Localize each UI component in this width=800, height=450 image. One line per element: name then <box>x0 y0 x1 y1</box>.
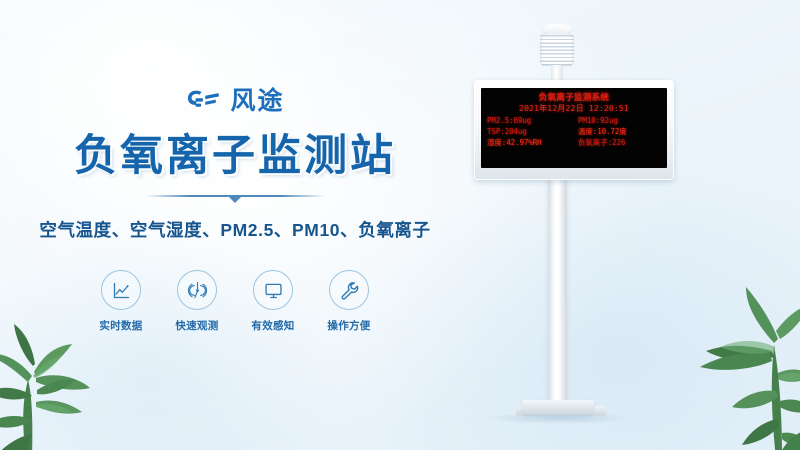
brand-name: 风途 <box>230 89 284 114</box>
led-reading-humidity: 湿度:42.97%RH <box>487 138 574 148</box>
led-reading-row: PM2.5:69ug PM10:92ug <box>487 116 661 126</box>
wrench-icon <box>329 270 369 310</box>
feature-item-realtime-data[interactable]: 实时数据 <box>95 270 147 333</box>
led-title: 负氧离子监测系统 <box>487 93 661 103</box>
weather-sensor-shield-icon <box>534 24 580 86</box>
monitor-screen-icon <box>253 270 293 310</box>
led-reading-negative-ions: 负氧离子:226 <box>574 138 661 148</box>
led-display-bezel: 负氧离子监测系统 2021年12月22日 12:20:51 PM2.5:69ug… <box>474 80 674 180</box>
feature-item-fast-observation[interactable]: 快速观测 <box>171 270 223 333</box>
feature-item-effective-sensing[interactable]: 有效感知 <box>247 270 299 333</box>
fengtu-logo-icon <box>185 88 221 114</box>
page-title: 负氧离子监测站 <box>74 134 396 179</box>
led-reading-pm25: PM2.5:69ug <box>487 116 574 126</box>
promo-banner: 风途 负氧离子监测站 空气温度、空气湿度、PM2.5、PM10、负氧离子 实时数… <box>0 0 800 450</box>
led-reading-pm10: PM10:92ug <box>574 116 661 126</box>
led-display-panel: 负氧离子监测系统 2021年12月22日 12:20:51 PM2.5:69ug… <box>481 88 667 168</box>
brand-logo: 风途 <box>185 84 284 118</box>
led-datetime: 2021年12月22日 12:20:51 <box>487 104 661 114</box>
feature-label: 快速观测 <box>175 318 218 333</box>
monitoring-station: 负氧离子监测系统 2021年12月22日 12:20:51 PM2.5:69ug… <box>470 0 800 450</box>
led-reading-tsp: TSP:204ug <box>487 127 574 137</box>
title-divider <box>145 194 325 204</box>
feature-label: 操作方便 <box>327 318 370 333</box>
divider-arrow-icon <box>228 196 242 203</box>
pole-base-plate <box>522 400 594 415</box>
sensor-cap <box>543 24 571 33</box>
sensor-louvers <box>540 33 574 66</box>
led-reading-row: 湿度:42.97%RH 负氧离子:226 <box>487 138 661 148</box>
feature-list: 实时数据 快速观测 <box>95 270 375 333</box>
marketing-text-column: 风途 负氧离子监测站 空气温度、空气湿度、PM2.5、PM10、负氧离子 实时数… <box>0 0 470 450</box>
led-reading-temperature: 温度:10.72度 <box>574 127 661 137</box>
line-chart-icon <box>101 270 141 310</box>
feature-item-easy-operation[interactable]: 操作方便 <box>323 270 375 333</box>
led-reading-row: TSP:204ug 温度:10.72度 <box>487 127 661 137</box>
page-subtitle: 空气温度、空气湿度、PM2.5、PM10、负氧离子 <box>39 217 430 242</box>
radar-scan-icon <box>177 270 217 310</box>
feature-label: 实时数据 <box>99 318 142 333</box>
feature-label: 有效感知 <box>251 318 294 333</box>
